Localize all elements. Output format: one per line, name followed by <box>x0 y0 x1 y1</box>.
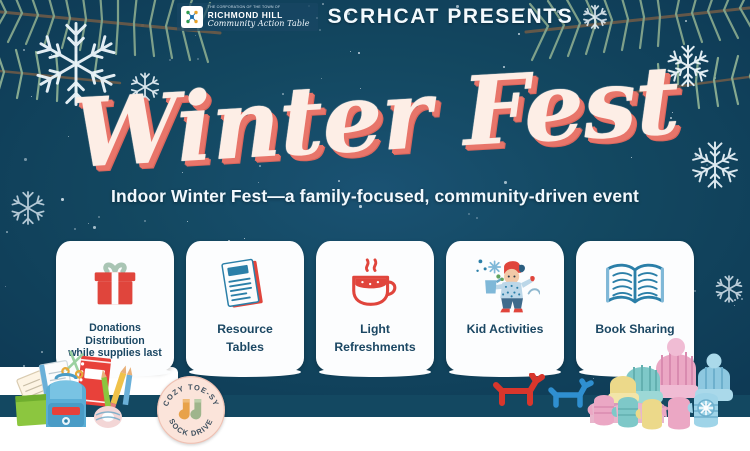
school-supplies-icon <box>4 347 164 433</box>
presents-text: SCRHCAT PRESENTS <box>328 5 574 29</box>
documents-icon <box>191 252 299 318</box>
page-title: Winter Fest <box>69 53 680 182</box>
card-label: Resource <box>217 322 273 336</box>
winter-clothing-pile-icon <box>582 335 750 431</box>
card-label: Donations Distribution <box>61 322 169 347</box>
card-label: Kid Activities <box>467 322 544 336</box>
card-sublabel: Refreshments <box>334 340 415 354</box>
hot-drink-cup-icon <box>321 252 429 318</box>
logo-tagline: Community Action Table <box>208 20 310 28</box>
gift-box-icon <box>61 252 169 318</box>
svg-text:COZY TOE-SY: COZY TOE-SY <box>161 383 221 408</box>
card-light-refreshments[interactable]: Light Refreshments <box>316 241 434 372</box>
title-wrap: Winter Fest <box>0 58 750 176</box>
open-book-icon <box>581 252 689 318</box>
svg-text:SOCK DRIVE: SOCK DRIVE <box>167 417 215 438</box>
snowflake-right-lower-icon <box>712 272 746 306</box>
balloon-dogs-icon <box>490 373 600 417</box>
winter-fest-poster: THE CORPORATION OF THE TOWN OF RICHMOND … <box>0 0 750 451</box>
socks-pair-icon <box>179 399 201 419</box>
sock-drive-badge[interactable]: COZY TOE-SY SOCK DRIVE <box>157 376 225 444</box>
card-kid-activities[interactable]: Kid Activities <box>446 241 564 372</box>
organization-logo: THE CORPORATION OF THE TOWN OF RICHMOND … <box>177 3 318 31</box>
child-playing-icon <box>451 252 559 318</box>
subtitle: Indoor Winter Fest—a family-focused, com… <box>0 186 750 207</box>
header-row: THE CORPORATION OF THE TOWN OF RICHMOND … <box>0 2 750 32</box>
community-logo-icon <box>181 6 203 28</box>
card-label: Light <box>360 322 390 336</box>
sock-drive-badge-content: COZY TOE-SY SOCK DRIVE <box>157 376 225 444</box>
card-sublabel: Tables <box>226 340 264 354</box>
card-resource-tables[interactable]: Resource Tables <box>186 241 304 372</box>
